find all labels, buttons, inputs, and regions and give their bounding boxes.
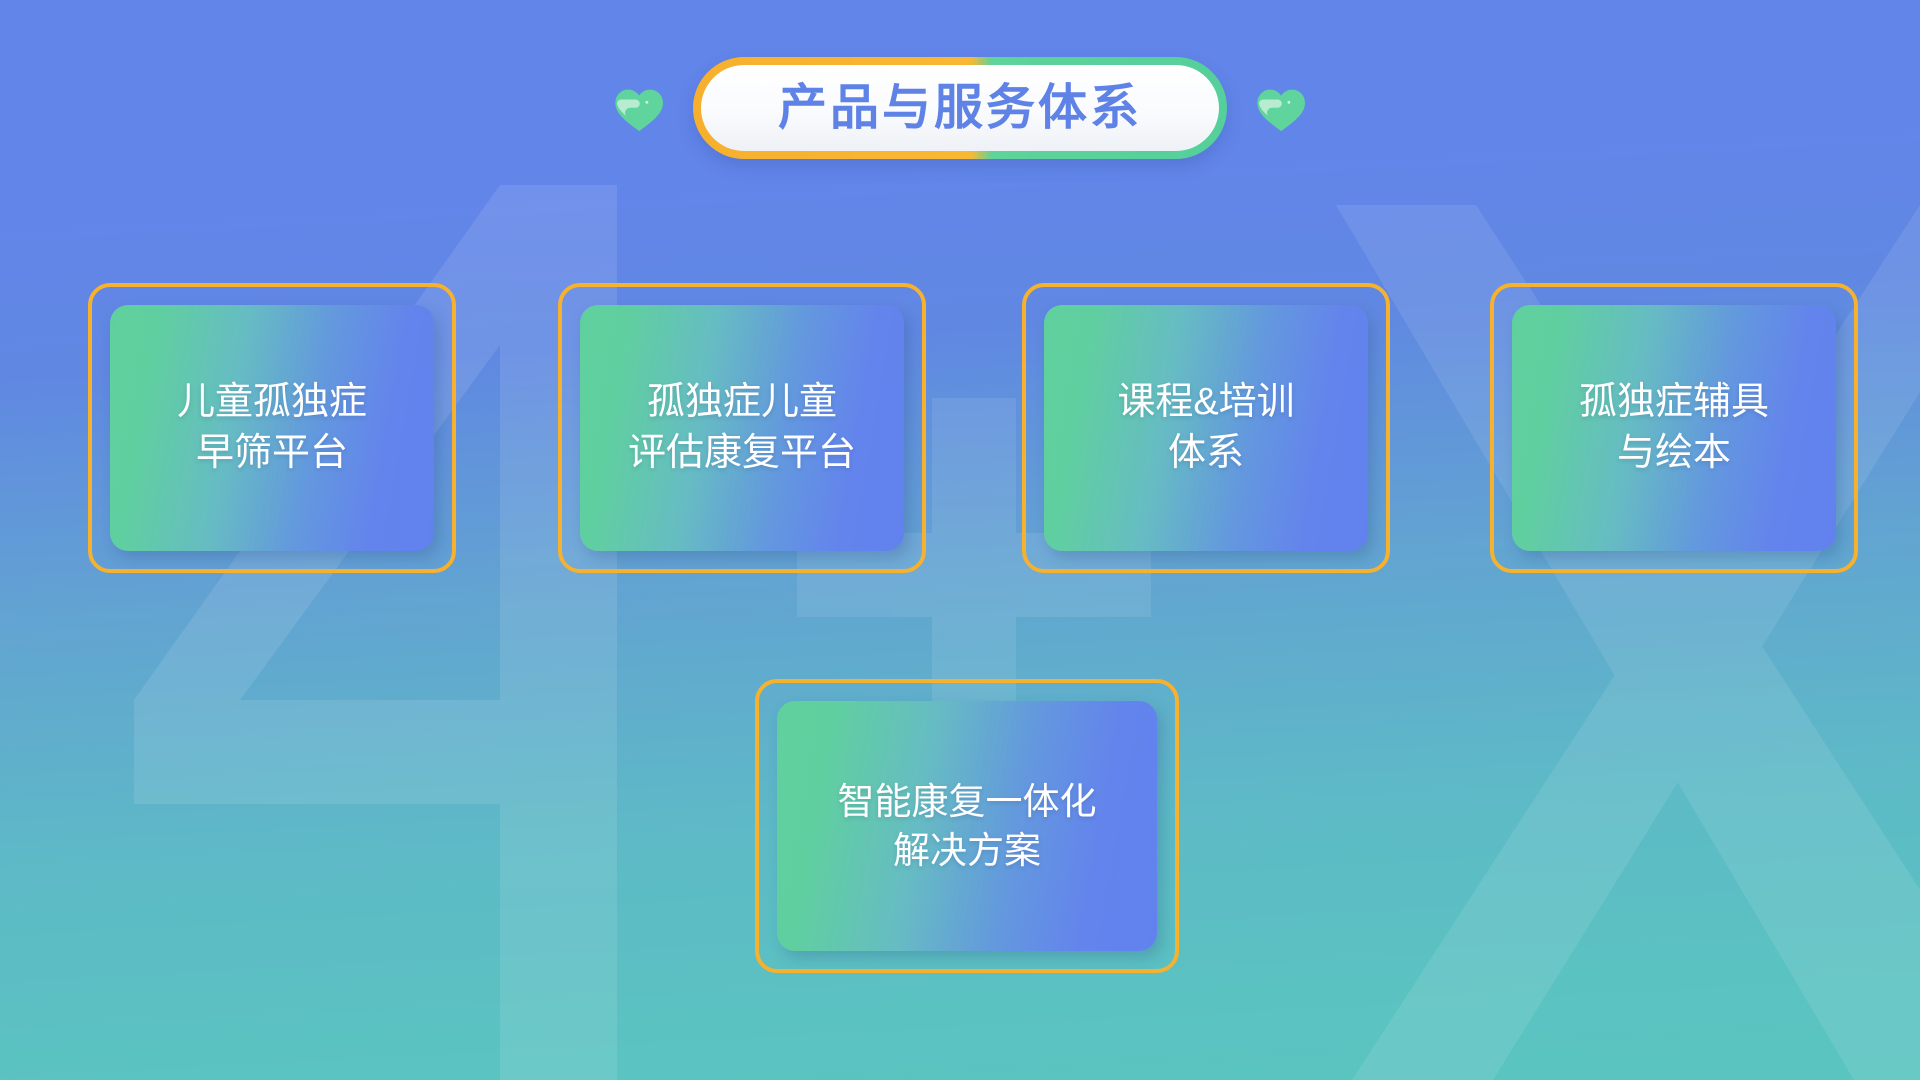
service-card[interactable]: 儿童孤独症 早筛平台 [88,283,456,573]
title-pill-inner: 产品与服务体系 [701,65,1219,151]
card-line: 早筛平台 [196,428,348,479]
card-line: 孤独症辅具 [1579,377,1769,428]
card-inner: 儿童孤独症 早筛平台 [110,305,434,551]
card-line: 与绘本 [1617,428,1731,479]
title-row: 产品与服务体系 [0,52,1920,164]
card-line: 解决方案 [893,826,1041,875]
slide-root: 产品与服务体系 儿童孤独症 早筛平台 孤独症儿童 评估康复平台 课程&培训 体系 [0,0,1920,1080]
service-card[interactable]: 孤独症辅具 与绘本 [1490,283,1858,573]
service-card[interactable]: 智能康复一体化 解决方案 [755,679,1179,973]
service-card[interactable]: 课程&培训 体系 [1022,283,1390,573]
title-pill: 产品与服务体系 [693,57,1227,159]
card-line: 智能康复一体化 [838,777,1097,826]
heart-hand-icon [611,80,667,136]
card-line: 儿童孤独症 [177,377,367,428]
service-card[interactable]: 孤独症儿童 评估康复平台 [558,283,926,573]
card-line: 体系 [1168,428,1244,479]
page-title: 产品与服务体系 [778,84,1142,133]
card-inner: 课程&培训 体系 [1044,305,1368,551]
heart-hand-icon [1253,80,1309,136]
card-line: 孤独症儿童 [647,377,837,428]
card-line: 评估康复平台 [628,428,856,479]
card-inner: 孤独症儿童 评估康复平台 [580,305,904,551]
card-inner: 智能康复一体化 解决方案 [777,701,1157,951]
card-inner: 孤独症辅具 与绘本 [1512,305,1836,551]
card-line: 课程&培训 [1117,377,1294,428]
